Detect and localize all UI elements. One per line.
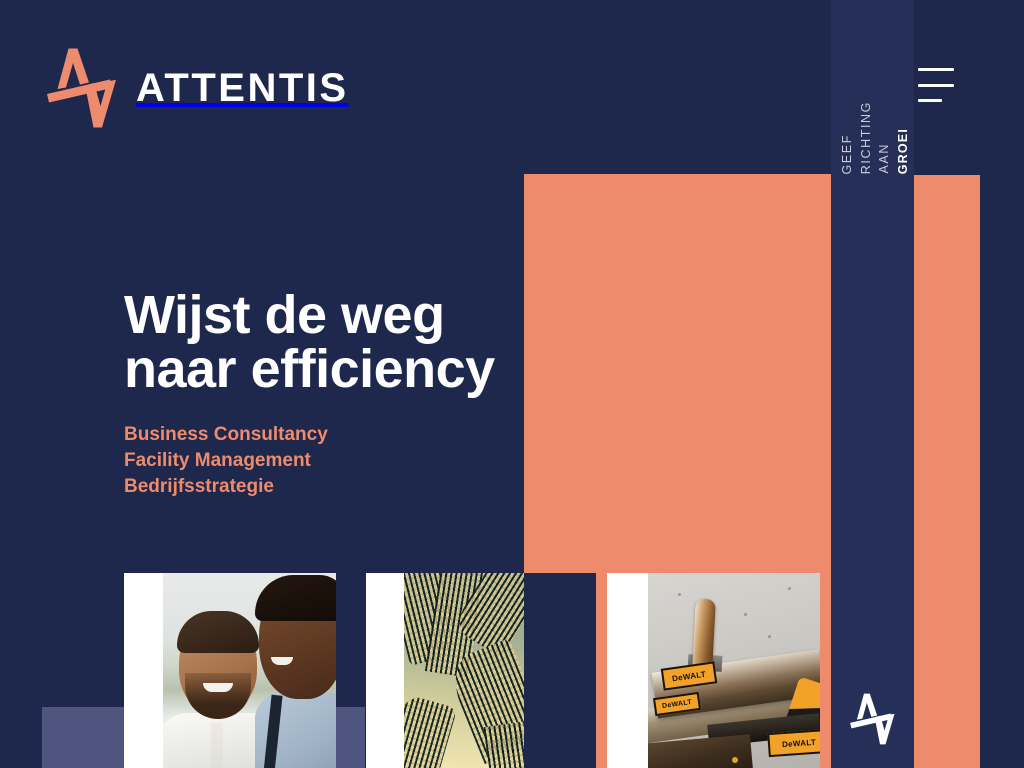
attentis-av-monogram-icon-watermark [846,692,898,746]
menu-line-3 [918,99,942,102]
photo-towers [404,573,524,768]
page-canvas: ATTENTIS GEEF RICHTING AAN GROEI Wijst d… [0,0,1024,768]
hero-section: Wijst de weg naar efficiency Business Co… [124,288,544,499]
menu-line-2 [918,84,954,87]
tagline-accent-groei: GROEI [894,128,913,174]
brand-name: ATTENTIS [136,68,349,108]
tagline-line-3: AAN [875,143,894,174]
service-item-consultancy: Business Consultancy [124,422,544,448]
service-item-strategie: Bedrijfsstrategie [124,474,544,500]
hair-right [255,575,336,621]
headline-line-1: Wijst de weg [124,285,445,345]
photo-people [163,573,336,768]
headline-line-2: naar efficiency [124,342,544,396]
brand-logo-link[interactable]: ATTENTIS [44,46,349,130]
tagline-line-2: RICHTING [857,101,876,174]
attentis-av-monogram-icon [44,46,118,130]
tool-rivet [732,757,738,763]
background-coral-block-large [524,174,831,573]
menu-line-1 [918,68,954,71]
hamburger-menu-icon[interactable] [918,68,954,102]
brand-label-package: DeWALT [767,729,820,757]
image-card-people[interactable] [124,573,336,768]
page-title: Wijst de weg naar efficiency [124,288,544,396]
hair-left [177,611,259,653]
image-card-tools[interactable]: DeWALT DeWALT DeWALT [607,573,820,768]
image-card-towers[interactable] [366,573,524,768]
tagline-line-1: GEEF [838,134,857,174]
service-item-facility: Facility Management [124,448,544,474]
service-list: Business Consultancy Facility Management… [124,422,544,499]
smile-left [203,683,233,692]
vertical-tagline: GEEF RICHTING AAN GROEI [838,54,912,174]
tower-6 [483,719,524,768]
photo-tools: DeWALT DeWALT DeWALT [648,573,820,768]
site-header: ATTENTIS GEEF RICHTING AAN GROEI [0,0,1024,174]
shirt-placket [211,723,223,768]
background-coral-strip-right [914,175,980,768]
tower-5 [404,693,457,768]
